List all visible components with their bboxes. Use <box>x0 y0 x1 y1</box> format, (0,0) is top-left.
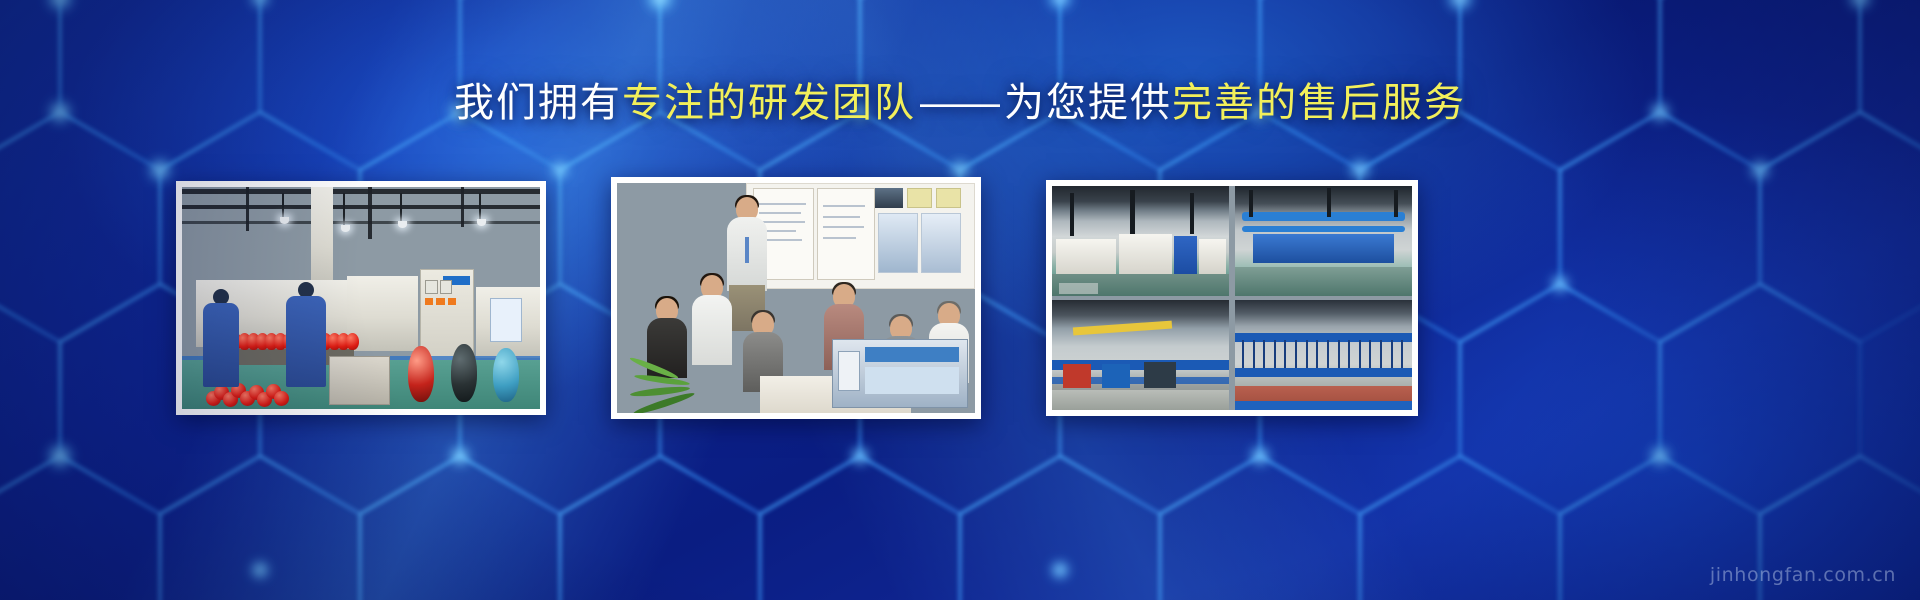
headline-segment-3: 为您提供 <box>1004 81 1172 125</box>
worker-figure <box>286 282 326 386</box>
site-watermark: jinhongfan.com.cn <box>1710 564 1896 586</box>
headline-segment-2-highlight: 专注的研发团队 <box>622 81 916 125</box>
worker-figure <box>203 289 239 387</box>
headline-dash: —— <box>916 81 1004 125</box>
collage-cell-top-left <box>1052 186 1229 296</box>
photo-3-equipment-collage <box>1052 186 1412 410</box>
photo-gallery <box>0 181 1920 416</box>
page-title: 我们拥有专注的研发团队——为您提供完善的售后服务 <box>0 78 1920 128</box>
photo-frame-equipment-collage[interactable] <box>1046 180 1418 416</box>
headline-segment-4-highlight: 完善的售后服务 <box>1172 81 1466 125</box>
plant-decoration <box>624 335 714 413</box>
photo-frame-team-meeting[interactable] <box>611 177 981 419</box>
photo-1-production-line <box>182 187 540 409</box>
photo-frame-production[interactable] <box>176 181 546 415</box>
headline-segment-1: 我们拥有 <box>454 81 622 125</box>
promo-banner: 我们拥有专注的研发团队——为您提供完善的售后服务 <box>0 0 1920 600</box>
collage-cell-bottom-right <box>1235 300 1412 410</box>
collage-cell-top-right <box>1235 186 1412 296</box>
collage-cell-bottom-left <box>1052 300 1229 410</box>
photo-2-team-meeting <box>617 183 975 413</box>
